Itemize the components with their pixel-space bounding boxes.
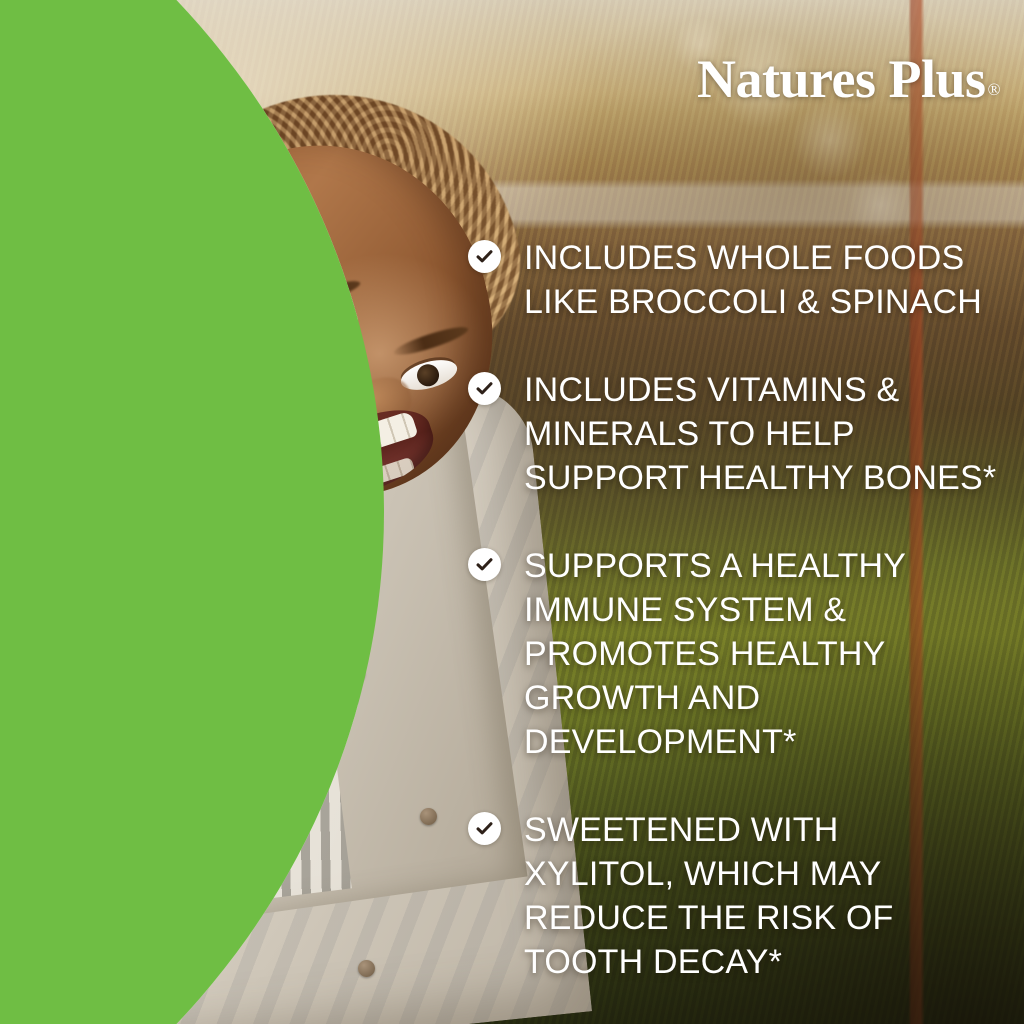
shirt-button (358, 960, 375, 977)
benefit-text: INCLUDES WHOLE FOODS LIKE BROCCOLI & SPI… (524, 236, 1008, 324)
benefit-item-1: INCLUDES WHOLE FOODS LIKE BROCCOLI & SPI… (468, 236, 1008, 324)
shirt-button (420, 808, 437, 825)
brand-logo-text: Natures Plus (697, 49, 986, 109)
registered-trademark-icon: ® (988, 80, 1000, 99)
product-benefits-promo-card: Natures Plus® INCLUDES WHOLE FOODS LIKE … (0, 0, 1024, 1024)
benefit-item-3: SUPPORTS A HEALTHY IMMUNE SYSTEM & PROMO… (468, 544, 1008, 764)
brand-logo: Natures Plus® (697, 52, 998, 106)
check-circle-icon (468, 372, 501, 405)
benefits-list: INCLUDES WHOLE FOODS LIKE BROCCOLI & SPI… (468, 236, 1008, 984)
check-circle-icon (468, 240, 501, 273)
benefit-item-4: SWEETENED WITH XYLITOL, WHICH MAY REDUCE… (468, 808, 1008, 984)
check-circle-icon (468, 812, 501, 845)
benefit-text: INCLUDES VITAMINS & MINERALS TO HELP SUP… (524, 368, 1008, 500)
benefit-item-2: INCLUDES VITAMINS & MINERALS TO HELP SUP… (468, 368, 1008, 500)
benefit-text: SWEETENED WITH XYLITOL, WHICH MAY REDUCE… (524, 808, 1008, 984)
green-edge-fill (0, 0, 120, 1024)
benefit-text: SUPPORTS A HEALTHY IMMUNE SYSTEM & PROMO… (524, 544, 1008, 764)
check-circle-icon (468, 548, 501, 581)
